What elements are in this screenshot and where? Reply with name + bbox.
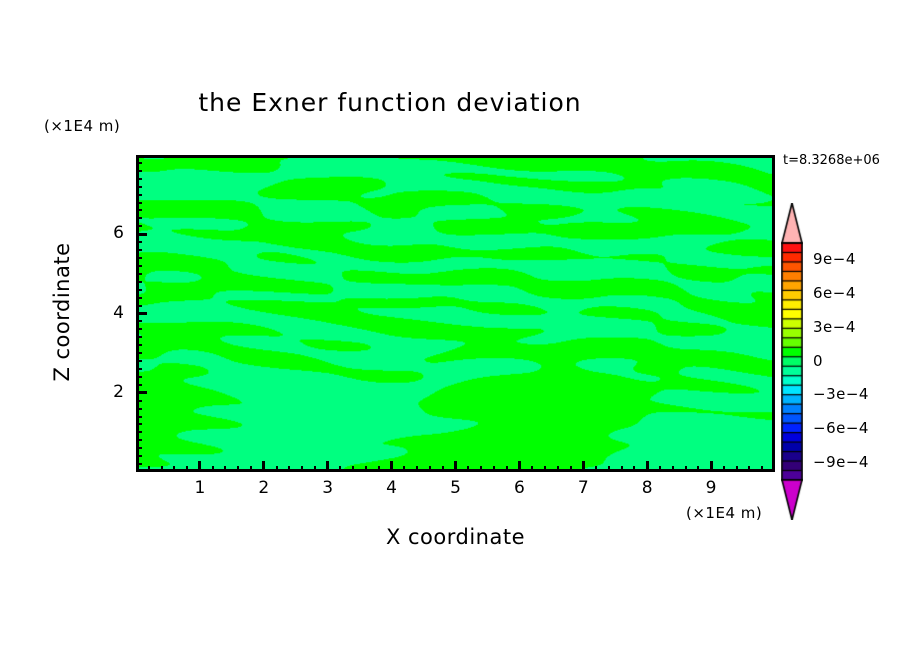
x-tick-major xyxy=(646,461,649,472)
x-tick-minor xyxy=(276,466,278,472)
x-tick-minor xyxy=(173,466,175,472)
y-tick-minor xyxy=(136,289,142,291)
x-tick-minor xyxy=(685,466,687,472)
x-tick-minor xyxy=(659,466,661,472)
colorbar xyxy=(781,203,803,520)
x-tick-minor xyxy=(148,466,150,472)
x-tick-minor xyxy=(736,466,738,472)
y-tick-minor xyxy=(136,209,142,211)
y-tick-minor xyxy=(136,431,142,433)
timestamp-annotation: t=8.3268e+06 xyxy=(783,153,880,168)
y-tick-minor xyxy=(136,336,142,338)
y-tick-minor xyxy=(136,400,142,402)
x-tick-minor xyxy=(595,466,597,472)
x-tick-minor xyxy=(467,466,469,472)
x-tick-minor xyxy=(429,466,431,472)
x-tick-minor xyxy=(212,466,214,472)
colorbar-tick-label: 3e−4 xyxy=(813,318,856,336)
x-axis-title: X coordinate xyxy=(136,525,775,549)
y-tick-minor xyxy=(136,194,142,196)
x-tick-minor xyxy=(288,466,290,472)
y-tick-minor xyxy=(136,376,142,378)
x-tick-label: 2 xyxy=(249,478,279,498)
x-tick-minor xyxy=(570,466,572,472)
x-tick-minor xyxy=(403,466,405,472)
y-tick-minor xyxy=(136,225,142,227)
x-tick-minor xyxy=(608,466,610,472)
y-tick-minor xyxy=(136,408,142,410)
colorbar-tick-label: −3e−4 xyxy=(813,385,869,403)
x-tick-minor xyxy=(748,466,750,472)
x-tick-minor xyxy=(480,466,482,472)
y-tick-minor xyxy=(136,328,142,330)
y-tick-minor xyxy=(136,416,142,418)
x-tick-minor xyxy=(723,466,725,472)
x-tick-minor xyxy=(314,466,316,472)
y-tick-minor xyxy=(136,463,142,465)
y-tick-major xyxy=(136,391,147,394)
x-tick-label: 5 xyxy=(441,478,471,498)
x-tick-major xyxy=(518,461,521,472)
y-tick-minor xyxy=(136,368,142,370)
x-tick-minor xyxy=(442,466,444,472)
y-tick-minor xyxy=(136,273,142,275)
x-tick-minor xyxy=(621,466,623,472)
x-tick-label: 7 xyxy=(568,478,598,498)
y-tick-minor xyxy=(136,186,142,188)
colorbar-tick-label: −6e−4 xyxy=(813,419,869,437)
x-tick-minor xyxy=(672,466,674,472)
contour-plot-area xyxy=(136,155,775,472)
y-axis-title: Z coordinate xyxy=(50,222,74,402)
colorbar-tick-label: −9e−4 xyxy=(813,453,869,471)
x-tick-minor xyxy=(506,466,508,472)
x-tick-minor xyxy=(697,466,699,472)
y-tick-minor xyxy=(136,384,142,386)
y-tick-minor xyxy=(136,423,142,425)
contour-field-canvas xyxy=(139,158,772,469)
colorbar-tick-label: 9e−4 xyxy=(813,250,856,268)
x-tick-minor xyxy=(531,466,533,472)
y-tick-minor xyxy=(136,249,142,251)
x-tick-minor xyxy=(544,466,546,472)
x-tick-minor xyxy=(186,466,188,472)
x-tick-label: 6 xyxy=(504,478,534,498)
x-tick-major xyxy=(454,461,457,472)
x-tick-major xyxy=(198,461,201,472)
y-tick-minor xyxy=(136,265,142,267)
y-tick-minor xyxy=(136,344,142,346)
y-tick-minor xyxy=(136,455,142,457)
x-tick-minor xyxy=(416,466,418,472)
y-tick-minor xyxy=(136,305,142,307)
y-tick-minor xyxy=(136,217,142,219)
x-tick-major xyxy=(326,461,329,472)
x-tick-minor xyxy=(301,466,303,472)
x-tick-minor xyxy=(557,466,559,472)
y-tick-major xyxy=(136,312,147,315)
x-tick-label: 3 xyxy=(313,478,343,498)
y-tick-label: 6 xyxy=(94,223,124,243)
colorbar-tick-label: 6e−4 xyxy=(813,284,856,302)
colorbar-canvas xyxy=(781,203,803,520)
x-tick-minor xyxy=(352,466,354,472)
x-tick-minor xyxy=(161,466,163,472)
x-axis-unit-label: (×1E4 m) xyxy=(686,504,762,522)
x-tick-minor xyxy=(224,466,226,472)
x-tick-label: 1 xyxy=(185,478,215,498)
y-tick-minor xyxy=(136,281,142,283)
y-tick-minor xyxy=(136,297,142,299)
x-tick-major xyxy=(582,461,585,472)
y-tick-minor xyxy=(136,352,142,354)
x-tick-minor xyxy=(365,466,367,472)
y-tick-minor xyxy=(136,162,142,164)
x-tick-minor xyxy=(633,466,635,472)
x-tick-major xyxy=(710,461,713,472)
x-tick-minor xyxy=(250,466,252,472)
y-tick-minor xyxy=(136,178,142,180)
y-tick-label: 4 xyxy=(94,303,124,323)
x-tick-minor xyxy=(493,466,495,472)
x-tick-minor xyxy=(761,466,763,472)
y-tick-minor xyxy=(136,241,142,243)
x-tick-label: 9 xyxy=(696,478,726,498)
y-tick-minor xyxy=(136,170,142,172)
y-tick-minor xyxy=(136,257,142,259)
y-tick-minor xyxy=(136,360,142,362)
x-tick-minor xyxy=(378,466,380,472)
colorbar-tick-label: 0 xyxy=(813,352,823,370)
page-title: the Exner function deviation xyxy=(0,88,780,117)
y-tick-minor xyxy=(136,202,142,204)
x-tick-minor xyxy=(237,466,239,472)
y-axis-unit-label: (×1E4 m) xyxy=(44,117,120,135)
x-tick-major xyxy=(390,461,393,472)
y-tick-major xyxy=(136,233,147,236)
y-tick-label: 2 xyxy=(94,382,124,402)
x-tick-minor xyxy=(339,466,341,472)
y-tick-minor xyxy=(136,447,142,449)
x-tick-label: 4 xyxy=(377,478,407,498)
x-tick-label: 8 xyxy=(632,478,662,498)
y-tick-minor xyxy=(136,320,142,322)
x-tick-major xyxy=(262,461,265,472)
y-tick-minor xyxy=(136,439,142,441)
